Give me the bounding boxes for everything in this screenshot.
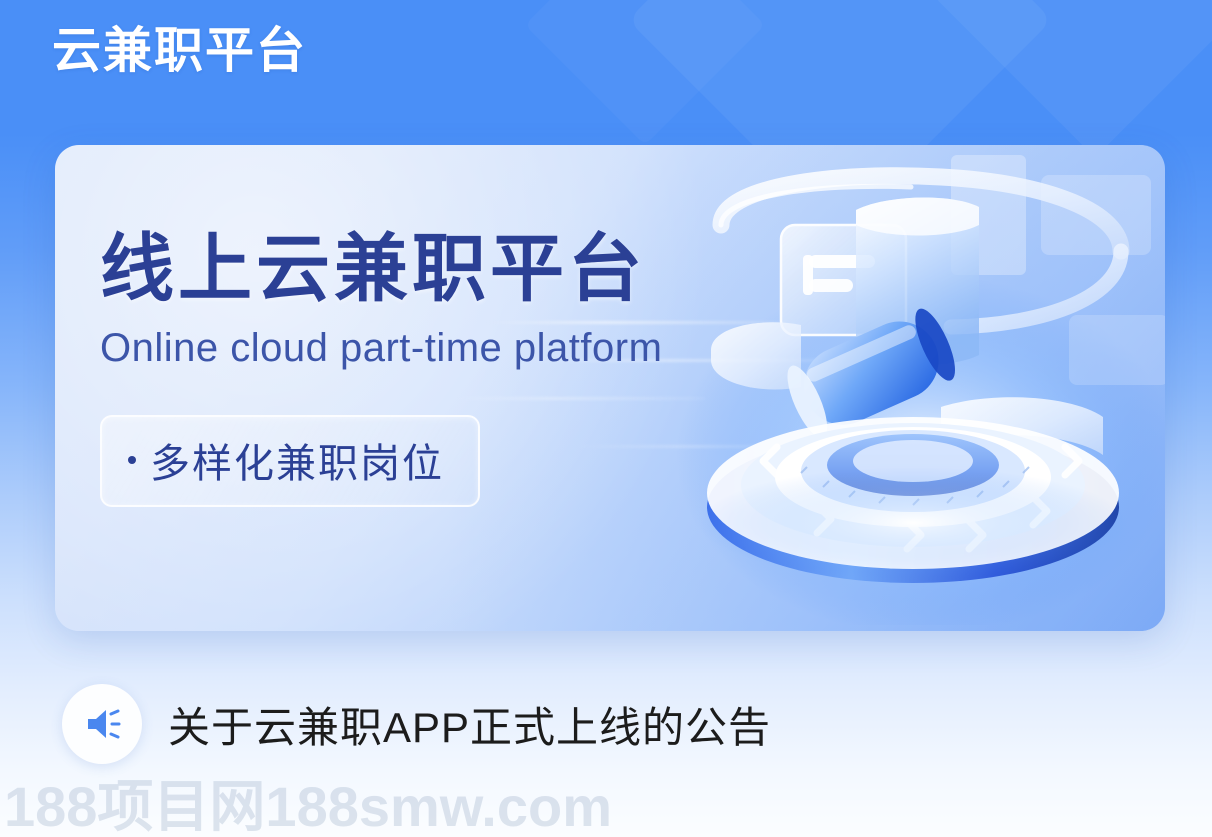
bullet-dot-icon: [128, 456, 136, 464]
banner-heading: 线上云兼职平台: [100, 230, 662, 308]
announcement-icon-button[interactable]: [62, 684, 142, 764]
app-header: 云兼职平台: [52, 22, 307, 81]
banner-illustration: [651, 155, 1165, 625]
banner-subheading: Online cloud part-time platform: [100, 326, 662, 371]
banner-copy: 线上云兼职平台 Online cloud part-time platform …: [100, 230, 662, 507]
speaker-icon: [81, 703, 123, 745]
banner-tag-label: 多样化兼职岗位: [150, 431, 444, 489]
watermark: 188项目网188smw.com: [4, 762, 612, 837]
background-chevron-medium: [932, 0, 1212, 158]
hero-banner[interactable]: 线上云兼职平台 Online cloud part-time platform …: [55, 145, 1165, 631]
background-chevron-small: [525, 0, 765, 145]
page-title: 云兼职平台: [52, 22, 307, 81]
announcement-text: 关于云兼职APP正式上线的公告: [168, 694, 771, 755]
cloud-platform-3d-icon: [651, 155, 1165, 625]
banner-feature-tag[interactable]: 多样化兼职岗位: [100, 415, 480, 507]
announcement-row[interactable]: 关于云兼职APP正式上线的公告: [62, 684, 771, 764]
